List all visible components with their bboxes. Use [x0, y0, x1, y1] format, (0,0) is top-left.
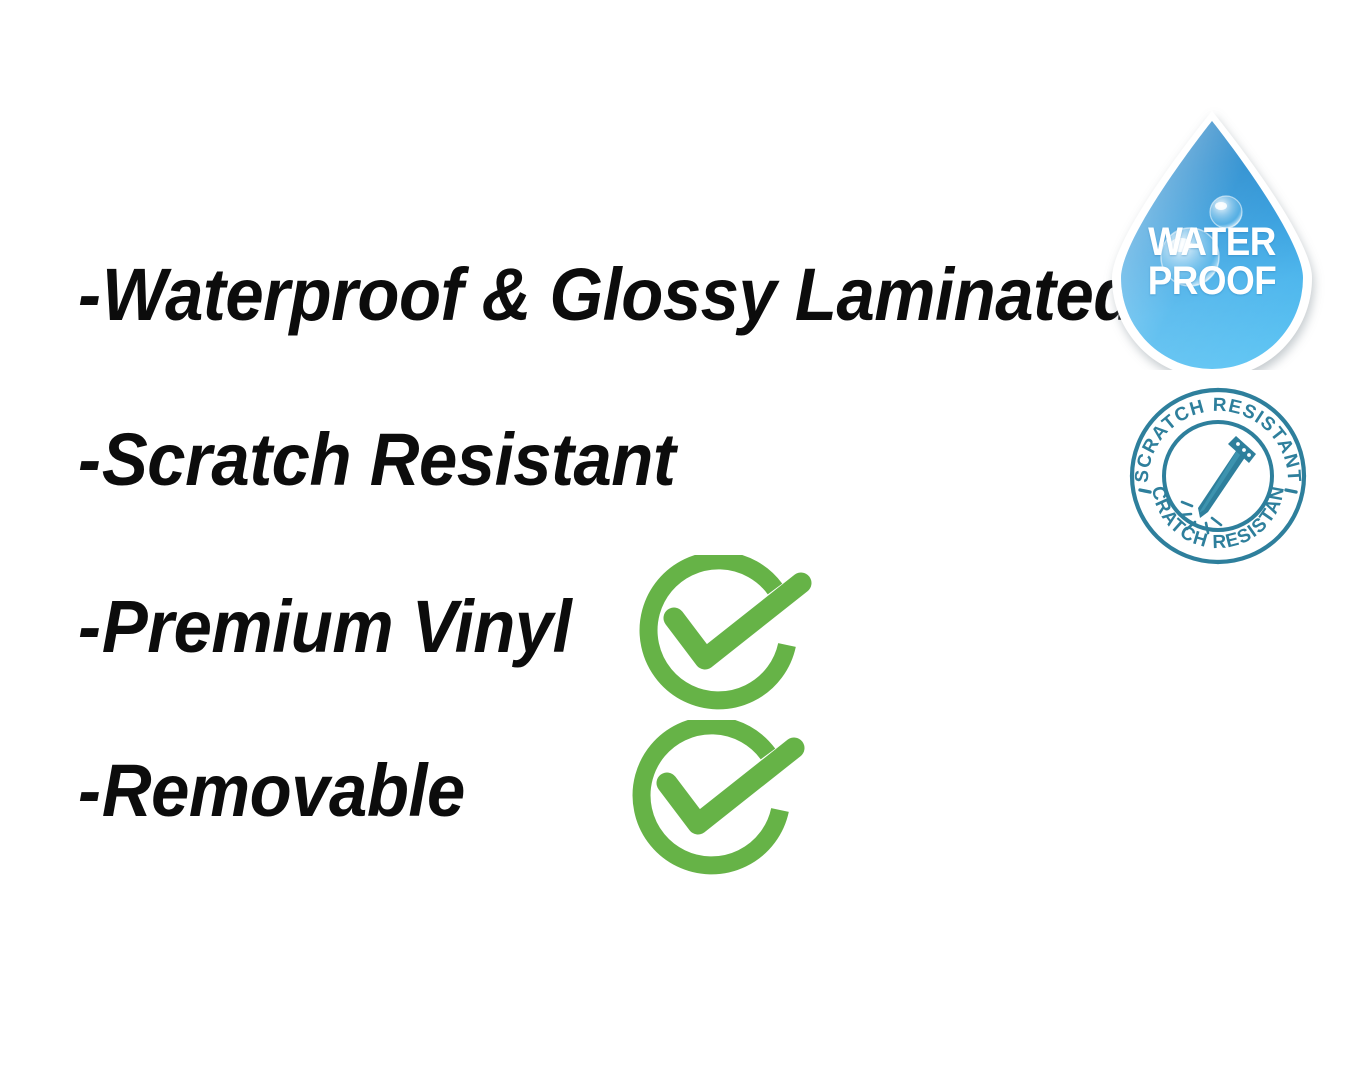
- feature-bullet-dash: -: [78, 253, 102, 336]
- scratch-text-top: SCRATCH RESISTANT: [1132, 395, 1305, 484]
- feature-bullet-dash: -: [78, 749, 102, 832]
- feature-item-removable: -Removable: [78, 754, 465, 828]
- scratch-text-top-path: SCRATCH RESISTANT: [1132, 395, 1305, 484]
- waterproof-badge: WATER PROOF: [1098, 105, 1326, 370]
- feature-bullet-dash: -: [78, 585, 102, 668]
- check-circle-icon: [630, 720, 830, 880]
- product-feature-graphic: -Waterproof & Glossy Laminated -Scratch …: [0, 0, 1359, 1080]
- knife-icon: [1180, 436, 1256, 533]
- check-mark-removable: [630, 720, 830, 880]
- check-circle-icon: [637, 555, 837, 715]
- knife-stamp-icon: SCRATCH RESISTANT SCRATCH RESISTANT: [1128, 386, 1308, 568]
- feature-bullet-dash: -: [78, 418, 102, 501]
- feature-item-premium-vinyl: -Premium Vinyl: [78, 590, 571, 664]
- feature-label: Removable: [102, 749, 465, 832]
- bubble-small-icon: [1210, 196, 1242, 228]
- feature-item-scratch-resistant: -Scratch Resistant: [78, 423, 675, 497]
- feature-item-waterproof: -Waterproof & Glossy Laminated: [78, 258, 1135, 332]
- scratch-resistant-badge: SCRATCH RESISTANT SCRATCH RESISTANT: [1128, 386, 1308, 568]
- feature-list: -Waterproof & Glossy Laminated -Scratch …: [0, 0, 1100, 1080]
- check-mark-premium-vinyl: [637, 555, 837, 715]
- feature-label: Waterproof & Glossy Laminated: [102, 253, 1135, 336]
- water-drop-icon: [1098, 105, 1326, 370]
- feature-label: Premium Vinyl: [102, 585, 571, 668]
- bubble-large-icon: [1161, 228, 1219, 286]
- feature-label: Scratch Resistant: [102, 418, 675, 501]
